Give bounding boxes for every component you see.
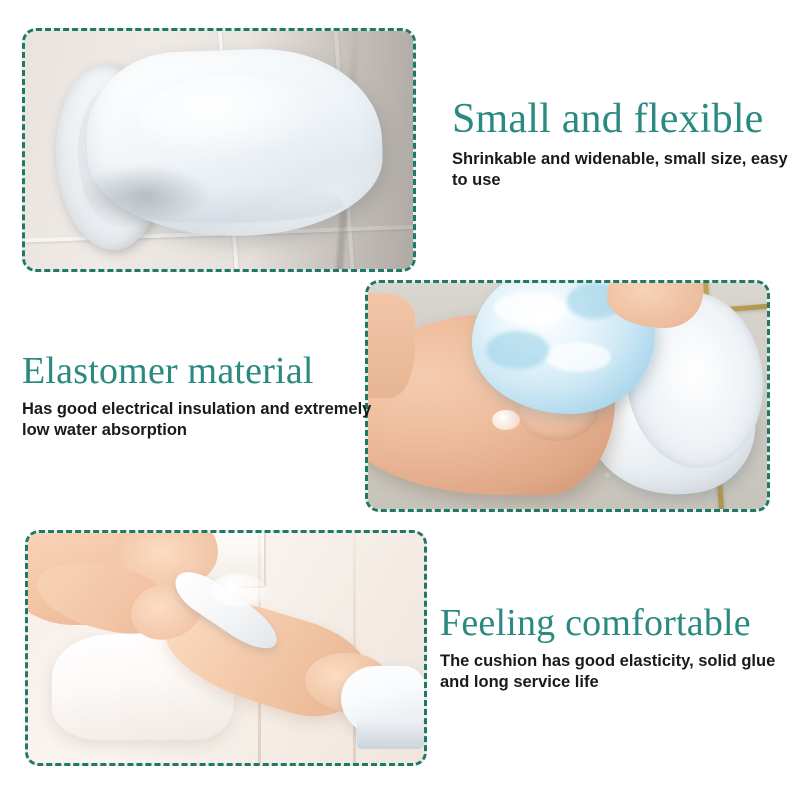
- loofah-fold: [494, 292, 567, 325]
- soap-bubble: [492, 410, 520, 430]
- platform-highlight: [138, 73, 324, 161]
- feature-image-feeling-comfortable: [25, 530, 427, 766]
- product-feature-collage: Small and flexible Shrinkable and widena…: [0, 0, 800, 800]
- feature-description: The cushion has good elasticity, solid g…: [440, 651, 788, 694]
- foot-rest-base: [357, 719, 424, 749]
- feature-heading: Elastomer material: [22, 352, 382, 391]
- scene-shaving-leg-on-foot-rest: [28, 533, 424, 763]
- feature-text-feeling-comfortable: Feeling comfortable The cushion has good…: [440, 604, 788, 694]
- platform-drop-shadow: [79, 164, 211, 226]
- feature-description: Shrinkable and widenable, small size, ea…: [452, 149, 792, 192]
- feature-heading: Feeling comfortable: [440, 604, 788, 643]
- loofah-fold: [545, 342, 611, 372]
- feature-description: Has good electrical insulation and extre…: [22, 399, 382, 442]
- feature-image-small-and-flexible: [22, 28, 416, 272]
- scene-washing-foot-with-loofah: [368, 283, 767, 509]
- feature-heading: Small and flexible: [452, 98, 792, 141]
- scene-shower-foot-rest-on-wall: [25, 31, 413, 269]
- loofah-shadow: [486, 331, 548, 370]
- feature-image-elastomer-material: [365, 280, 770, 512]
- feature-text-small-and-flexible: Small and flexible Shrinkable and widena…: [452, 98, 792, 192]
- shaving-foam: [210, 574, 265, 606]
- feature-text-elastomer-material: Elastomer material Has good electrical i…: [22, 352, 382, 442]
